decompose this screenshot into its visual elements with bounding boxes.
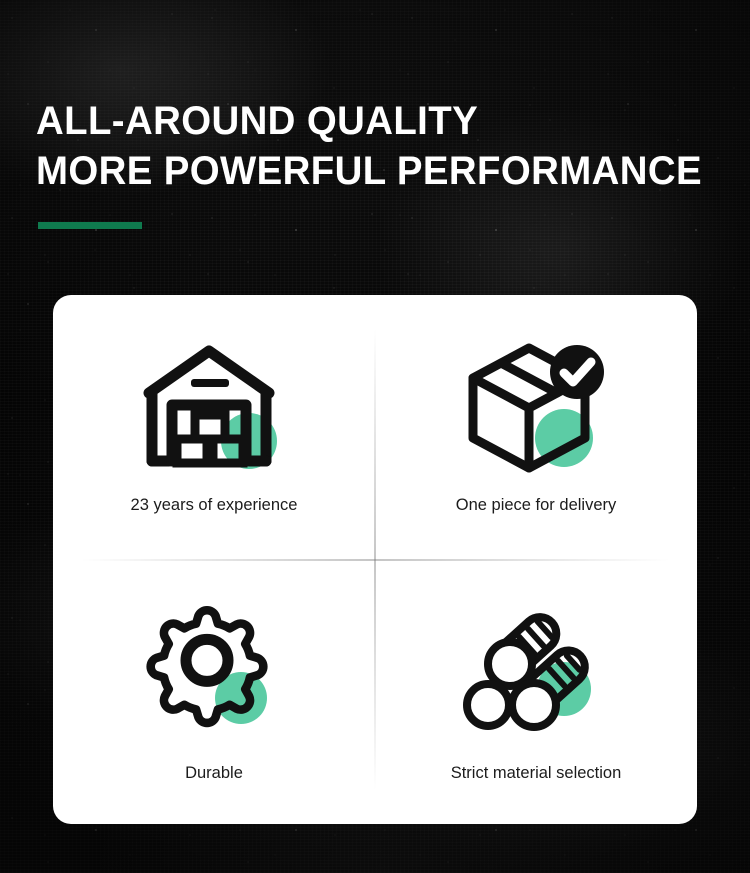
- vent-bar: [191, 379, 229, 387]
- gear-icon: [143, 607, 285, 735]
- features-card: 23 years of experience: [53, 295, 697, 824]
- log-end-right: [512, 683, 556, 727]
- feature-item-delivery[interactable]: One piece for delivery: [375, 295, 697, 560]
- gear-icon-wrap: [134, 601, 294, 741]
- feature-item-durable[interactable]: Durable: [53, 560, 375, 825]
- logs-icon: [466, 609, 606, 733]
- package-check-icon-wrap: [456, 339, 616, 479]
- log-end-left: [467, 684, 509, 726]
- feature-item-experience[interactable]: 23 years of experience: [53, 295, 375, 560]
- feature-label: 23 years of experience: [131, 495, 298, 515]
- promo-banner: ALL-AROUND QUALITY MORE POWERFUL PERFORM…: [0, 0, 750, 873]
- warehouse-icon: [139, 343, 289, 475]
- log-end-top: [488, 642, 532, 686]
- feature-label: Durable: [185, 763, 243, 783]
- features-grid: 23 years of experience: [53, 295, 697, 824]
- headline-line-2: MORE POWERFUL PERFORMANCE: [36, 146, 721, 196]
- package-check-icon: [463, 342, 609, 476]
- accent-rule: [38, 222, 142, 229]
- feature-item-material[interactable]: Strict material selection: [375, 560, 697, 825]
- warehouse-icon-wrap: [134, 339, 294, 479]
- logs-icon-wrap: [456, 601, 616, 741]
- feature-label: One piece for delivery: [456, 495, 617, 515]
- headline-block: ALL-AROUND QUALITY MORE POWERFUL PERFORM…: [36, 96, 750, 196]
- headline-line-1: ALL-AROUND QUALITY: [36, 96, 721, 146]
- gear-hub: [186, 639, 228, 681]
- feature-label: Strict material selection: [451, 763, 622, 783]
